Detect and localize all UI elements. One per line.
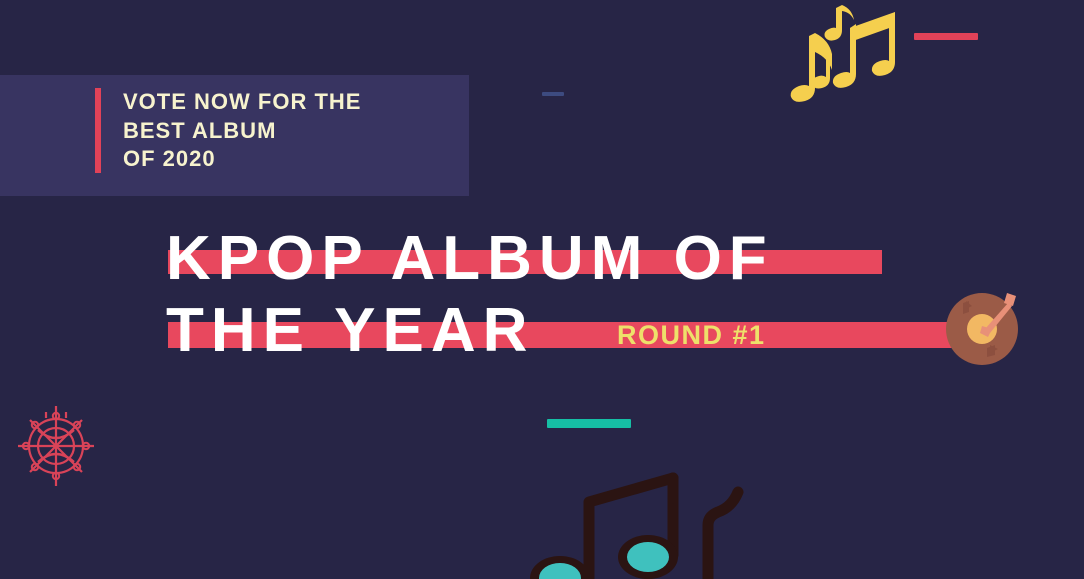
blue-dash-decoration	[542, 92, 564, 96]
teal-dash-decoration	[547, 419, 631, 428]
red-dash-decoration	[914, 33, 978, 40]
kicker-accent-bar	[95, 88, 101, 173]
poster-canvas: VOTE NOW FOR THE BEST ALBUM OF 2020 KPOP…	[0, 0, 1084, 579]
music-notes-yellow-icon	[782, 0, 912, 130]
kicker-text: VOTE NOW FOR THE BEST ALBUM OF 2020	[123, 88, 463, 174]
page-title-line-1: KPOP ALBUM OF	[166, 228, 774, 290]
page-title-line-2: THE YEAR	[166, 300, 534, 362]
music-notes-teal-icon	[498, 460, 748, 579]
round-label: ROUND #1	[617, 322, 766, 348]
compass-rosette-icon	[8, 396, 104, 496]
vinyl-record-icon	[944, 285, 1026, 367]
